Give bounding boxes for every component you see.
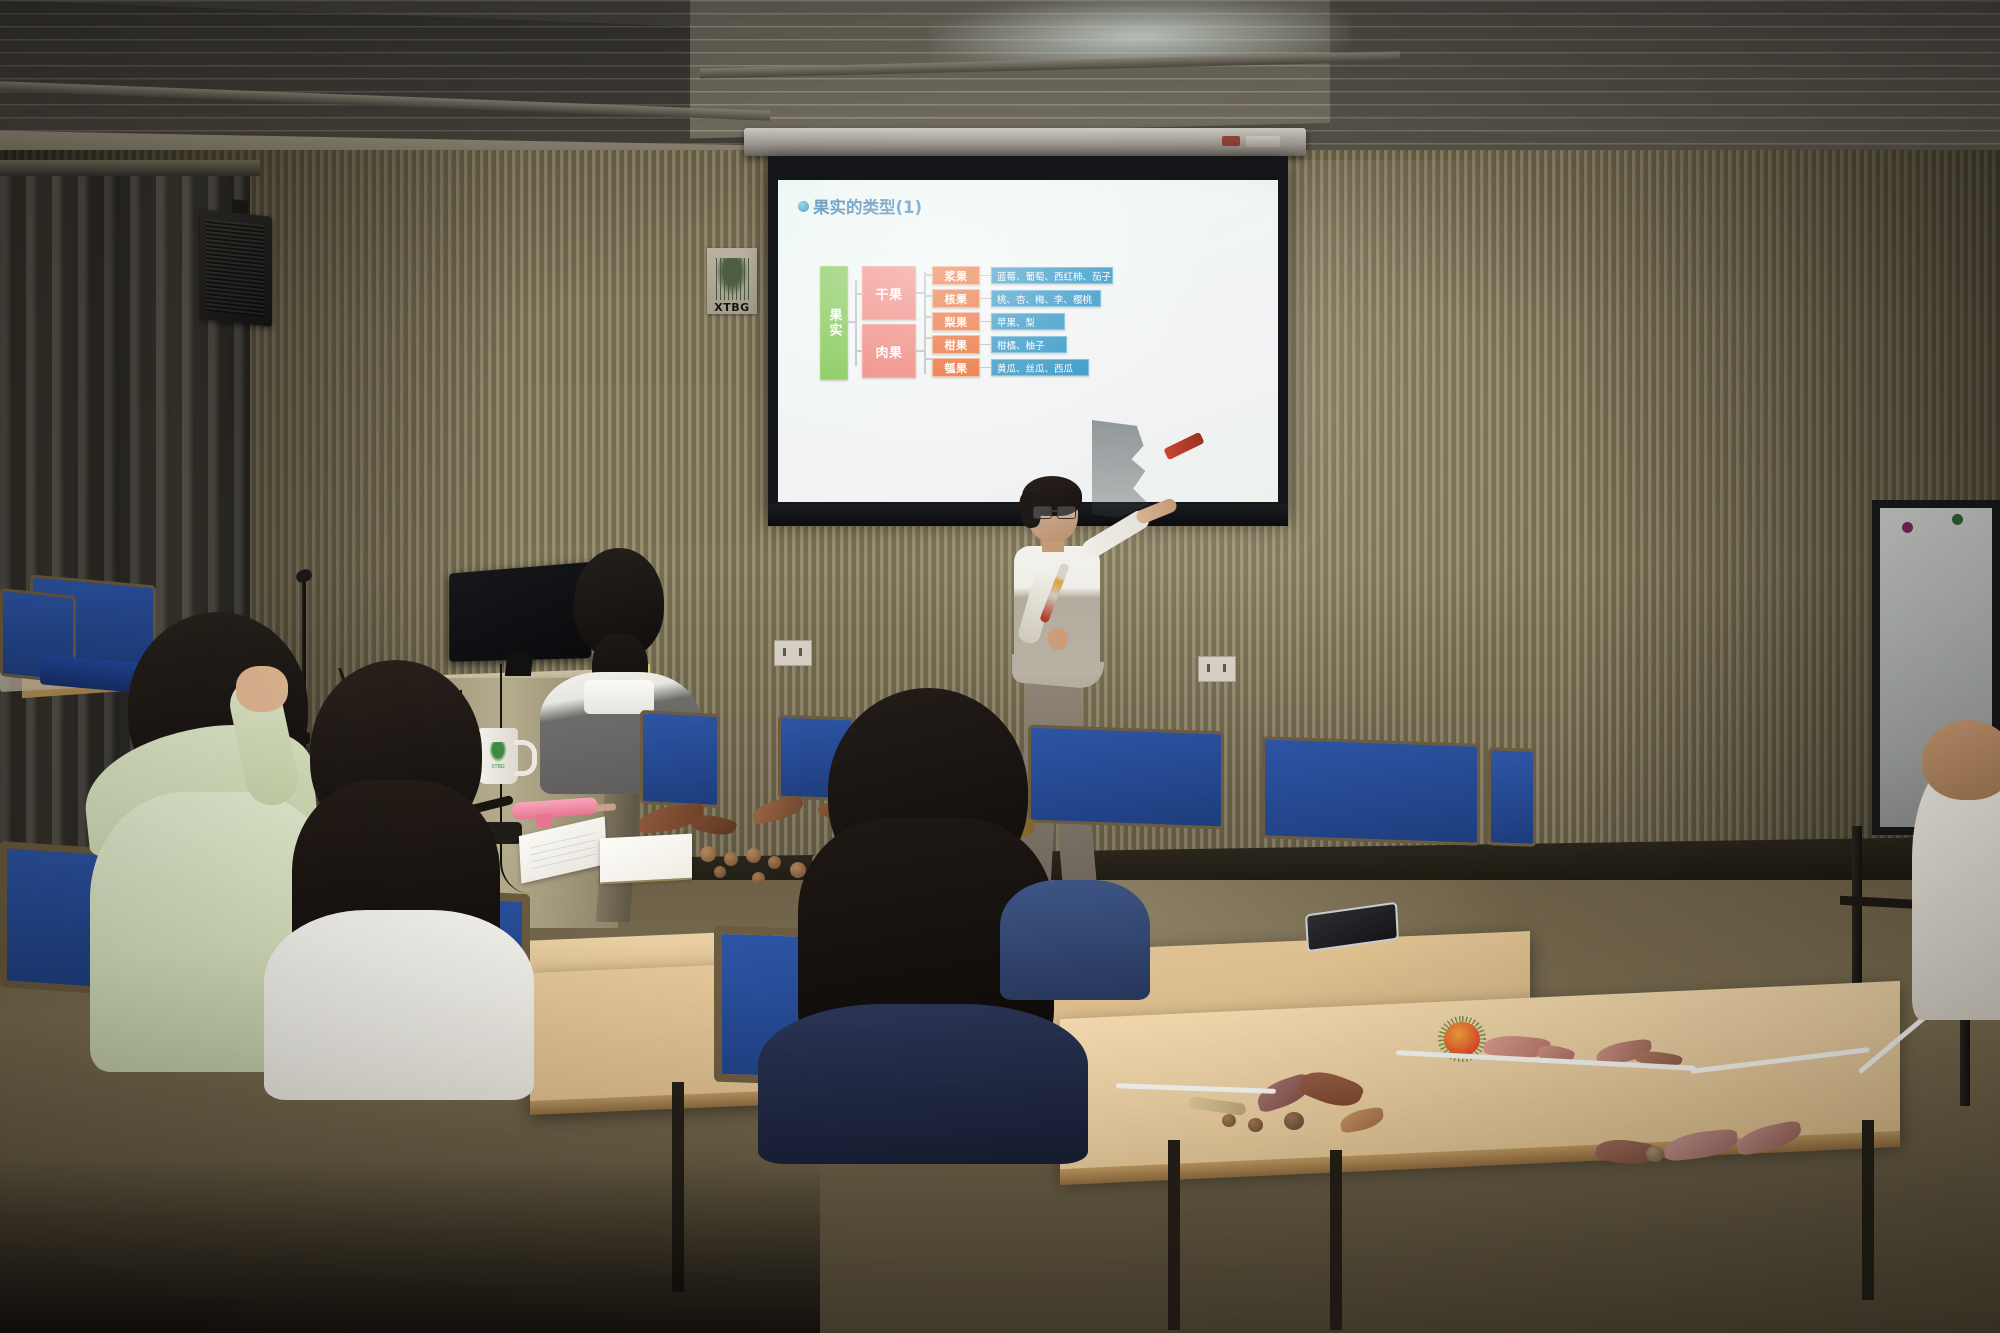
connector-line (924, 274, 932, 276)
tree-icon (713, 258, 751, 300)
seed-specimen (700, 846, 716, 862)
chair-row2[interactable] (640, 712, 720, 806)
table-leg (1330, 1150, 1342, 1330)
student-collar (584, 680, 654, 714)
diagram-type-1: 核果 (932, 289, 980, 308)
diagram-type-column: 浆果 蓝莓、葡萄、西红柿、茄子 核果 桃、杏、梅、李、樱桃 梨果 苹果、梨 (932, 266, 1113, 380)
wall-outlet-left[interactable] (774, 640, 812, 666)
connector-branches-types (916, 266, 932, 380)
glasses-icon (1033, 506, 1075, 517)
diagram-type-row: 浆果 蓝莓、葡萄、西红柿、茄子 (932, 266, 1113, 285)
whiteboard-magnet-purple[interactable] (1902, 522, 1913, 533)
connector-line (980, 321, 991, 323)
audience-member-blue-shirt (1000, 880, 1150, 1000)
connector-line (924, 295, 932, 297)
diagram-type-row: 梨果 苹果、梨 (932, 312, 1113, 331)
wall-outlet-right[interactable] (1198, 656, 1236, 682)
outlet-slot (783, 648, 786, 656)
diagram-type-row: 柑果 柑橘、柚子 (932, 335, 1113, 354)
screen-ir-receiver (1222, 136, 1240, 146)
curtain-rail (0, 160, 260, 176)
chair-row2[interactable] (1488, 748, 1536, 846)
speaker-grille (206, 219, 264, 317)
audience-body (1000, 880, 1150, 1000)
diagram-examples-1: 桃、杏、梅、李、樱桃 (991, 290, 1101, 307)
chair-backrest (1488, 747, 1536, 847)
slide-title: 果实的类型(1) (813, 194, 922, 218)
projection-screen-surface: 果实的类型(1) 果实 干果 肉果 (778, 180, 1278, 502)
glasses-lens-right (1057, 506, 1076, 519)
diagram-root-node: 果实 (820, 266, 848, 380)
diagram-type-row: 瓠果 黄瓜、丝瓜、西瓜 (932, 358, 1113, 377)
presenter-hand (1048, 628, 1068, 650)
outlet-slot (1207, 664, 1210, 672)
diagram-type-4: 瓠果 (932, 358, 980, 377)
notebook-right-page (600, 834, 692, 883)
audience-arm (1922, 720, 2000, 800)
glasses-lens-left (1033, 506, 1052, 519)
audience-member-right-edge (1912, 720, 2000, 1020)
connector-line (855, 350, 862, 352)
chair-foreground-far-right[interactable] (1160, 952, 1294, 1086)
seed-specimen (1222, 1114, 1236, 1127)
audience-body (264, 910, 534, 1100)
chair-row2[interactable] (1262, 740, 1480, 842)
connector-line (980, 367, 991, 369)
connector-line (980, 275, 991, 277)
seed-specimen (1284, 1112, 1304, 1130)
slide: 果实的类型(1) 果实 干果 肉果 (778, 180, 1278, 502)
foreground-shadow (0, 1160, 820, 1333)
slide-title-row: 果实的类型(1) (798, 194, 1266, 218)
connector-line (855, 293, 862, 295)
outlet-slot (1223, 664, 1226, 672)
diagram-type-3: 柑果 (932, 335, 980, 354)
outlet-slot (799, 648, 802, 656)
diagram-branch-1: 肉果 (862, 324, 916, 378)
diagram-type-0: 浆果 (932, 266, 980, 285)
connector-line (924, 337, 932, 339)
diagram-branch-0: 干果 (862, 266, 916, 320)
connector-line (916, 292, 924, 294)
diagram-examples-4: 黄瓜、丝瓜、西瓜 (991, 359, 1089, 376)
chair-backrest (1262, 736, 1480, 846)
connector-line (980, 344, 991, 346)
connector-line (916, 350, 924, 352)
seed-specimen (1248, 1118, 1263, 1132)
diagram-examples-0: 蓝莓、葡萄、西红柿、茄子 (991, 267, 1113, 284)
connector-line (848, 321, 855, 323)
seed-specimen (724, 852, 738, 866)
whiteboard-magnet-green[interactable] (1952, 514, 1963, 525)
chair-backrest (640, 710, 720, 808)
diagram-type-row: 核果 桃、杏、梅、李、樱桃 (932, 289, 1113, 308)
seed-specimen (714, 866, 726, 878)
table-leg (1168, 1140, 1180, 1330)
xtbg-logo-text: XTBG (714, 301, 749, 314)
fruit-type-diagram: 果实 干果 肉果 (820, 266, 1113, 380)
diagram-type-2: 梨果 (932, 312, 980, 331)
connector-line (980, 298, 991, 300)
circle-bullet-icon (798, 201, 809, 212)
glasses-bridge (1050, 510, 1057, 512)
connector-root-branches (848, 266, 862, 380)
classroom-scene: XTBG 果实的类型(1) 果实 (0, 0, 2000, 1333)
diagram-examples-2: 苹果、梨 (991, 313, 1065, 330)
connector-line (924, 316, 932, 318)
connector-line (924, 358, 932, 360)
xtbg-wall-logo: XTBG (707, 248, 757, 314)
diagram-branch-column: 干果 肉果 (862, 266, 916, 378)
screen-housing-label (1246, 136, 1280, 147)
audience-body (758, 1004, 1088, 1164)
table-leg (1862, 1120, 1874, 1300)
seed-specimen (1646, 1146, 1664, 1162)
diagram-examples-3: 柑橘、柚子 (991, 336, 1067, 353)
rambutan-fruit (1444, 1022, 1480, 1056)
audience-member-white-shirt (258, 660, 558, 1080)
